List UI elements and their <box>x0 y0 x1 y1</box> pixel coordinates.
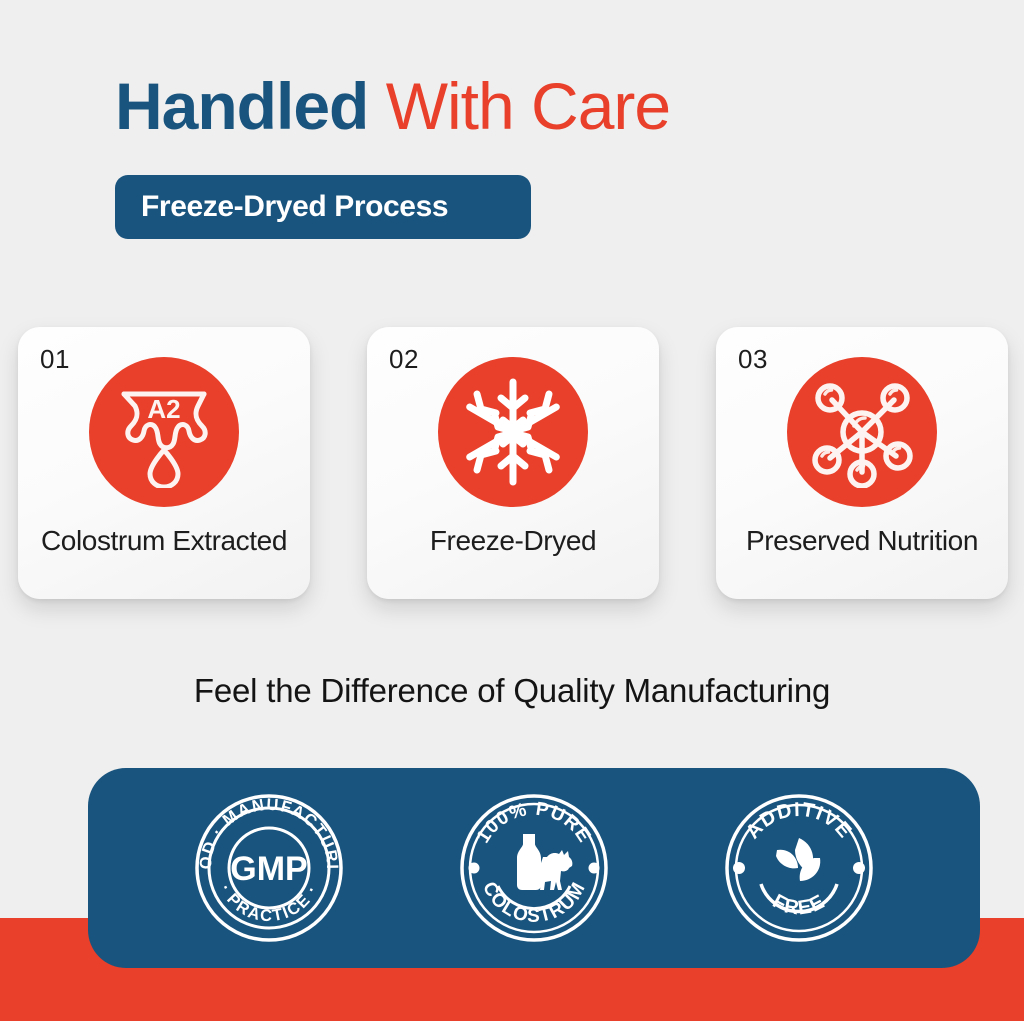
gmp-seal: GOOD · MANUFACTURING · PRACTICE · GMP <box>189 788 349 948</box>
milk-drip-a2-icon: A2 <box>89 357 239 507</box>
svg-text:A2: A2 <box>147 394 180 424</box>
milk-bottle-icon <box>517 834 541 890</box>
cow-icon <box>538 850 573 890</box>
pure-colostrum-seal: 100% PURE COLOSTRUM <box>454 788 614 948</box>
gmp-center-text: GMP <box>230 850 307 888</box>
card-number: 02 <box>389 344 419 375</box>
process-card-preserved-nutrition[interactable]: 03 <box>716 327 1008 599</box>
card-number: 01 <box>40 344 70 375</box>
subtitle-badge-label: Freeze-Dryed Process <box>141 190 448 224</box>
page-title: Handled With Care <box>115 72 670 141</box>
snowflake-icon <box>438 357 588 507</box>
subtitle-badge: Freeze-Dryed Process <box>115 175 531 239</box>
additive-free-seal: ADDITIVE FREE <box>719 788 879 948</box>
svg-text:· PRACTICE ·: · PRACTICE · <box>216 882 322 926</box>
gmp-arc-bottom-text: · PRACTICE · <box>216 882 322 926</box>
page-title-light: With Care <box>386 69 670 143</box>
leaves-icon <box>776 838 820 881</box>
process-card-colostrum-extracted[interactable]: 01 A2 Colostrum Extracted <box>18 327 310 599</box>
card-label: Preserved Nutrition <box>746 525 978 557</box>
tagline: Feel the Difference of Quality Manufactu… <box>0 672 1024 710</box>
trust-seal-bar: GOOD · MANUFACTURING · PRACTICE · GMP 10… <box>88 768 980 968</box>
process-card-freeze-dryed[interactable]: 02 <box>367 327 659 599</box>
card-label: Freeze-Dryed <box>430 525 596 557</box>
card-number: 03 <box>738 344 768 375</box>
infographic-canvas: Handled With Care Freeze-Dryed Process 0… <box>0 0 1024 1021</box>
process-card-list: 01 A2 Colostrum Extracted 02 <box>18 327 1008 599</box>
card-label: Colostrum Extracted <box>41 525 287 557</box>
page-title-bold: Handled <box>115 69 386 143</box>
molecule-icon <box>787 357 937 507</box>
